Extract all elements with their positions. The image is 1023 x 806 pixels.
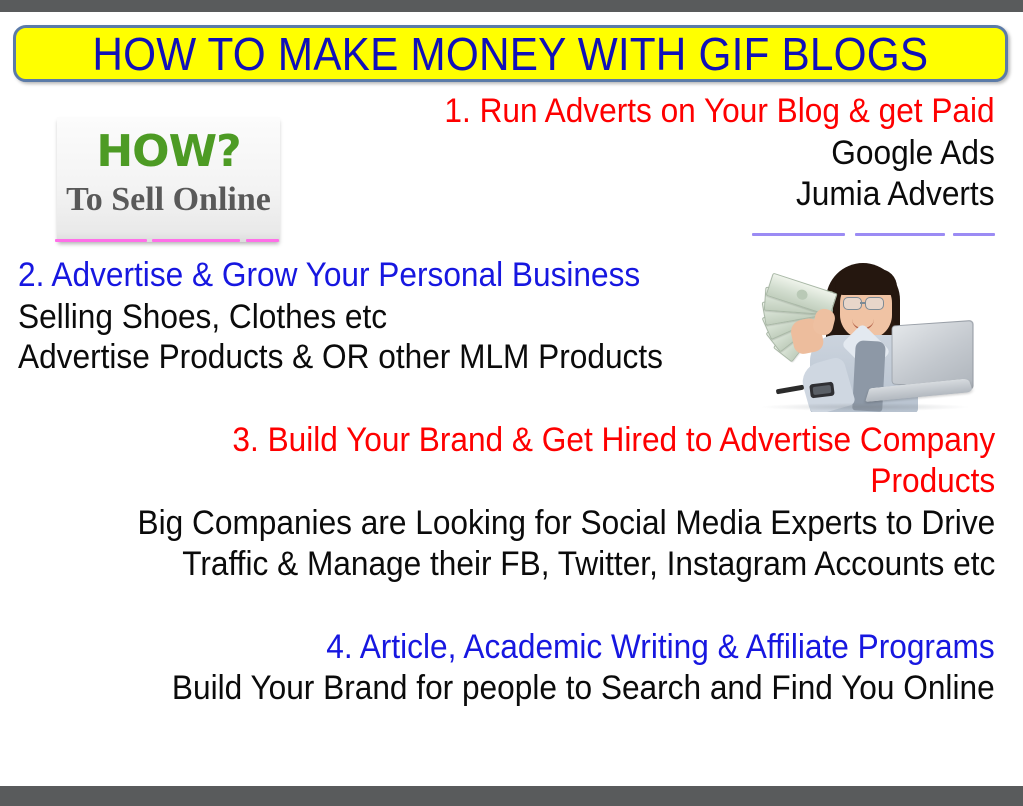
how-word-text: HOW? [57,130,280,174]
section-1-item-2: Jumia Adverts [781,174,995,214]
page-title-text: HOW TO MAKE MONEY WITH GIF BLOGS [93,31,929,77]
pen-object [776,385,804,395]
glasses-bridge [860,302,866,304]
section-4-item-1: Build Your Brand for people to Search an… [110,668,995,708]
bottom-frame-bar [0,786,1023,806]
left-underline-dash-3 [246,239,279,242]
left-underline-dash-2 [152,239,240,242]
glasses-right-lens [865,297,884,310]
section-1-heading: 1. Run Adverts on Your Blog & get Paid [403,91,995,131]
section-3-heading-line-1-text: 3. Build Your Brand & Get Hired to Adver… [232,420,995,460]
section-3-item-2-text: Traffic & Manage their FB, Twitter, Inst… [182,544,995,584]
page-title: HOW TO MAKE MONEY WITH GIF BLOGS [16,31,1005,77]
section-3-item-2: Traffic & Manage their FB, Twitter, Inst… [121,544,995,584]
fringe-shape [835,269,897,295]
right-underline-dash-3 [953,233,995,236]
how-subtitle-text: To Sell Online [57,181,280,219]
woman-with-money-image [748,257,976,412]
section-4-heading: 4. Article, Academic Writing & Affiliate… [276,627,995,667]
section-3-item-1-text: Big Companies are Looking for Social Med… [137,503,995,543]
right-underline-dash-2 [855,233,945,236]
section-3-heading-line-1: 3. Build Your Brand & Get Hired to Adver… [175,420,995,460]
section-1-item-2-text: Jumia Adverts [796,174,995,214]
section-2-item-2: Advertise Products & OR other MLM Produc… [18,337,711,377]
slide-canvas: HOW TO MAKE MONEY WITH GIF BLOGS HOW? To… [0,0,1023,806]
section-3-heading-line-2-text: Products [870,461,995,501]
section-4-heading-text: 4. Article, Academic Writing & Affiliate… [327,627,995,667]
slide-title-banner: HOW TO MAKE MONEY WITH GIF BLOGS [13,25,1008,82]
section-2-item-1: Selling Shoes, Clothes etc [18,297,415,337]
section-1-heading-text: 1. Run Adverts on Your Blog & get Paid [445,91,995,131]
section-2-heading-text: 2. Advertise & Grow Your Personal Busine… [18,255,640,295]
section-3-heading-line-2: Products [861,461,995,501]
slide-content-area: HOW TO MAKE MONEY WITH GIF BLOGS HOW? To… [0,12,1023,786]
section-2-heading: 2. Advertise & Grow Your Personal Busine… [18,255,687,295]
right-underline-dash-1 [752,233,845,236]
section-2-item-1-text: Selling Shoes, Clothes etc [18,297,387,337]
left-underline-dash-1 [55,239,147,242]
desk-shadow [762,403,968,411]
top-frame-bar [0,0,1023,12]
section-1-item-1-text: Google Ads [832,133,995,173]
section-4-item-1-text: Build Your Brand for people to Search an… [172,668,995,708]
section-3-item-1: Big Companies are Looking for Social Med… [73,503,995,543]
how-to-sell-online-image: HOW? To Sell Online [57,117,280,242]
section-2-item-2-text: Advertise Products & OR other MLM Produc… [18,337,663,377]
mobile-phone-object [809,382,835,399]
section-1-item-1: Google Ads [819,133,995,173]
